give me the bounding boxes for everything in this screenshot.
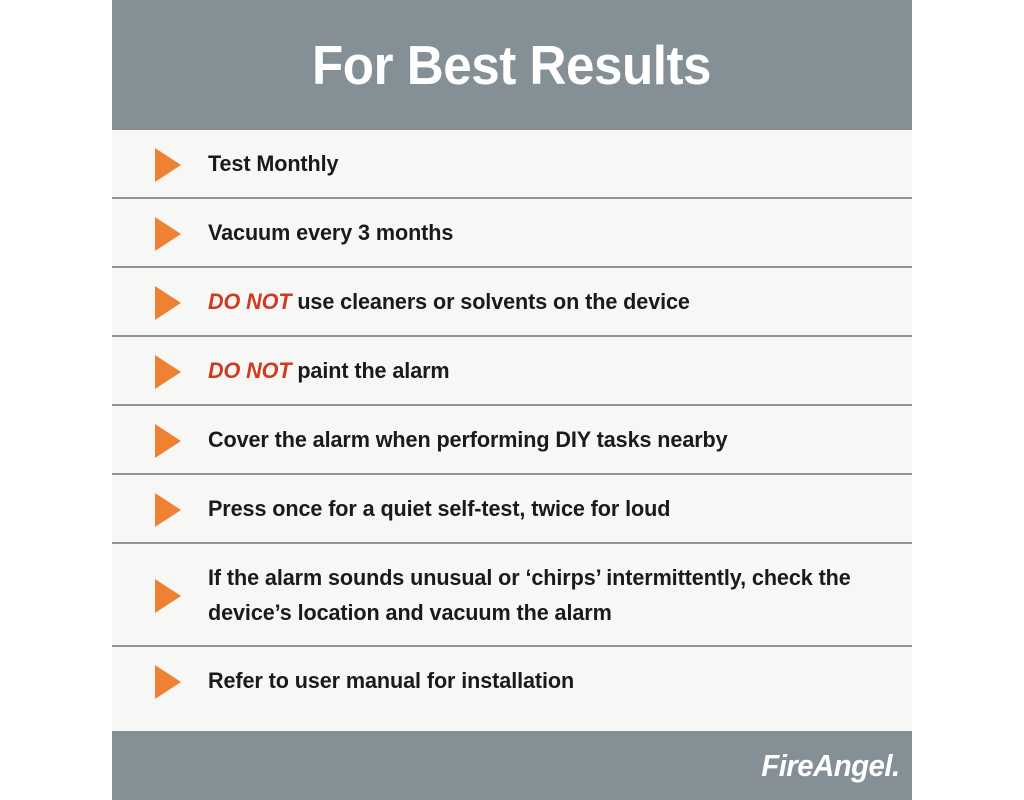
triangle-right-icon	[155, 217, 181, 251]
list-item: DO NOT use cleaners or solvents on the d…	[112, 268, 912, 337]
list-item: If the alarm sounds unusual or ‘chirps’ …	[112, 544, 912, 647]
page-title: For Best Results	[312, 38, 711, 93]
triangle-right-icon	[155, 286, 181, 320]
content-panel: For Best Results Test MonthlyVacuum ever…	[112, 0, 912, 800]
triangle-right-icon	[155, 665, 181, 699]
list-item: Test Monthly	[112, 130, 912, 199]
list-item-label: Vacuum every 3 months	[208, 216, 867, 251]
do-not-emphasis: DO NOT	[208, 289, 291, 314]
tips-list: Test MonthlyVacuum every 3 monthsDO NOT …	[112, 130, 912, 731]
list-item-label: Press once for a quiet self-test, twice …	[208, 492, 867, 527]
list-item-label: DO NOT paint the alarm	[208, 354, 867, 389]
list-item: Press once for a quiet self-test, twice …	[112, 475, 912, 544]
triangle-right-icon	[155, 355, 181, 389]
poster-canvas: For Best Results Test MonthlyVacuum ever…	[0, 0, 1024, 800]
fireangel-logo: FireAngel.	[762, 748, 900, 784]
list-item: DO NOT paint the alarm	[112, 337, 912, 406]
triangle-right-icon	[155, 579, 181, 613]
footer-bar: FireAngel.	[112, 731, 912, 800]
list-item-text: use cleaners or solvents on the device	[291, 289, 689, 314]
triangle-right-icon	[155, 148, 181, 182]
header-bar: For Best Results	[112, 0, 912, 130]
triangle-right-icon	[155, 493, 181, 527]
list-item-label: Refer to user manual for installation	[208, 664, 867, 699]
list-item-label: DO NOT use cleaners or solvents on the d…	[208, 285, 867, 320]
list-item: Cover the alarm when performing DIY task…	[112, 406, 912, 475]
triangle-right-icon	[155, 424, 181, 458]
list-item-label: Cover the alarm when performing DIY task…	[208, 423, 867, 458]
list-item: Refer to user manual for installation	[112, 647, 912, 716]
list-item-label: Test Monthly	[208, 147, 867, 182]
list-item: Vacuum every 3 months	[112, 199, 912, 268]
list-item-text: paint the alarm	[291, 358, 449, 383]
do-not-emphasis: DO NOT	[208, 358, 291, 383]
list-item-label: If the alarm sounds unusual or ‘chirps’ …	[208, 561, 867, 631]
